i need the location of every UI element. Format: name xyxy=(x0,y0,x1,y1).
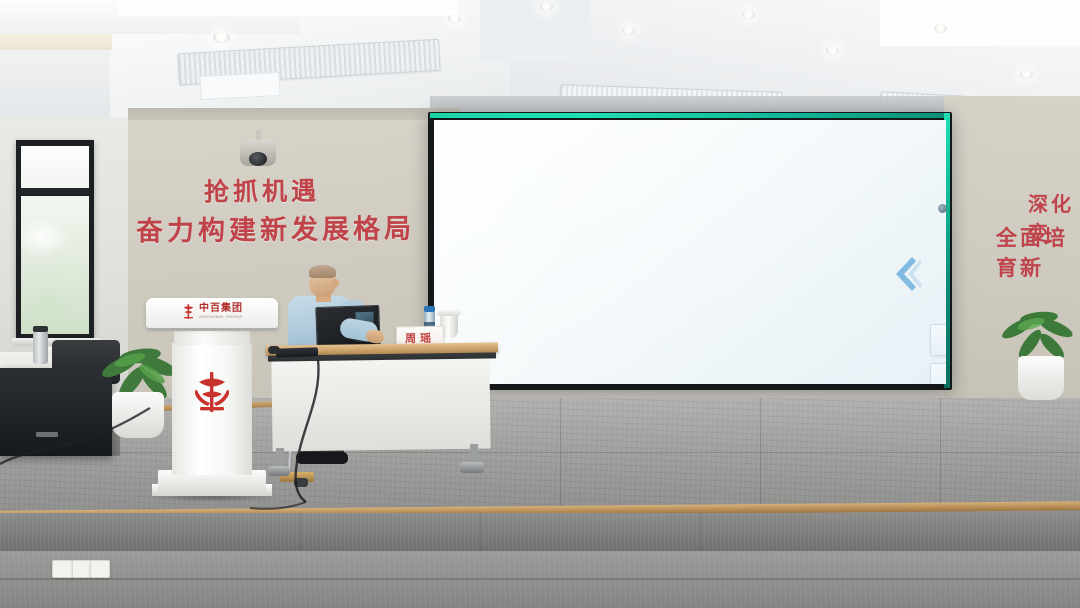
microphone-stand-wheel xyxy=(294,478,308,487)
downlight-icon xyxy=(934,24,947,33)
riser-seam xyxy=(300,513,301,553)
desk-caster xyxy=(268,466,290,476)
cup-lid xyxy=(437,309,461,316)
agenda-item[interactable]: 二、 会计基础工作规范 xyxy=(930,363,946,384)
presenter-ear xyxy=(333,279,339,287)
screen-glow-strip-top xyxy=(430,113,950,118)
mouse[interactable] xyxy=(268,346,280,354)
ceiling-cove-light xyxy=(0,34,112,50)
carpet-tile-seam xyxy=(760,398,761,510)
chevron-left-icon xyxy=(886,254,930,294)
downlight-icon xyxy=(742,10,755,19)
riser-seam xyxy=(480,513,481,553)
podium-brand-lockup: 中百集团 ZHONGBAI GROUP xyxy=(182,303,243,320)
window-mullion xyxy=(21,188,89,194)
screen-side-button[interactable] xyxy=(938,204,947,213)
plant-pot xyxy=(112,392,164,438)
riser-seam xyxy=(700,513,701,553)
stage-riser-face xyxy=(0,513,1080,553)
carpet-tile-seam xyxy=(940,398,941,510)
wall-slogan-right-line2: 全面培育新 xyxy=(996,222,1080,282)
window-glass-upper xyxy=(21,146,89,190)
slide-agenda-list: 一、 新会计法解读 二、 会计基础工作规范 三、 零售企业会计基础工作的探讨 四… xyxy=(930,324,946,384)
thermos-flask xyxy=(33,330,48,364)
ceiling-access-panel xyxy=(199,72,280,100)
presentation-screen[interactable]: 目录 北进中天州 中天铭 一、 新会计法解读 二、 会计基础工作规范 三、 零售… xyxy=(434,120,946,384)
power-outlet[interactable] xyxy=(52,560,74,578)
presenter-shoes xyxy=(296,452,348,464)
wall-slogan-left-line1: 抢抓机遇 xyxy=(204,171,320,208)
plant-pot xyxy=(1018,356,1064,400)
desk-caster xyxy=(460,462,484,473)
ceiling-step xyxy=(118,0,458,16)
podium-neck xyxy=(174,331,250,345)
podium-logo-text: 中百集团 xyxy=(199,304,243,314)
speaker-brand-badge xyxy=(36,432,58,437)
thermos-lid xyxy=(33,326,48,332)
keyboard[interactable] xyxy=(276,347,318,357)
desk-modesty-panel xyxy=(271,356,490,451)
company-logo-icon xyxy=(182,303,195,320)
company-logo-icon xyxy=(195,370,229,414)
lower-floor-seam xyxy=(0,578,1080,580)
downlight-icon xyxy=(540,2,553,11)
window-glass-main xyxy=(21,196,89,334)
ceiling-notch xyxy=(480,0,590,60)
power-outlet[interactable] xyxy=(72,560,92,578)
bottle-cap xyxy=(424,306,435,312)
carpet-tile-seam xyxy=(0,452,1080,453)
podium-logo-subtext: ZHONGBAI GROUP xyxy=(199,314,243,319)
carpet-tile-seam xyxy=(560,398,561,510)
power-outlet[interactable] xyxy=(90,560,110,578)
agenda-item-number: 二、 xyxy=(931,369,946,385)
downlight-icon xyxy=(622,26,635,35)
camera-lens-icon xyxy=(249,152,267,166)
agenda-item[interactable]: 一、 新会计法解读 xyxy=(930,324,946,356)
downlight-icon xyxy=(826,46,839,55)
wall-slogan-left-line2: 奋力构建新发展格局 xyxy=(136,207,415,249)
plant-foliage-icon xyxy=(998,296,1080,362)
presenter-hair xyxy=(309,265,336,278)
agenda-item-number: 一、 xyxy=(931,330,946,351)
conference-room-photo: 抢抓机遇 奋力构建新发展格局 深化变 全面培育新 目录 北进中天州 中天铭 一、… xyxy=(0,0,1080,608)
downlight-icon xyxy=(213,32,230,43)
downlight-icon xyxy=(448,14,461,23)
downlight-icon xyxy=(1020,70,1033,79)
ceiling-right-edge xyxy=(880,0,1080,46)
